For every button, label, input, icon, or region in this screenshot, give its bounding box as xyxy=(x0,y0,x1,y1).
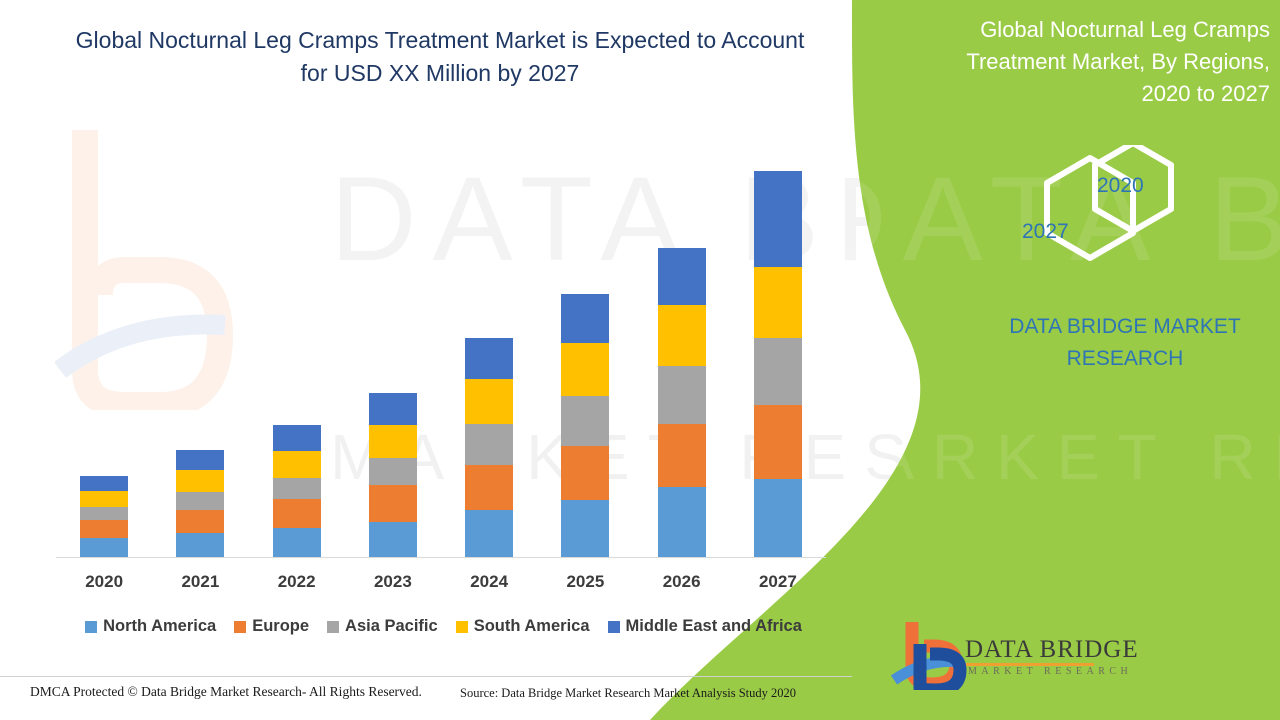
bar-slot-2024 xyxy=(441,140,537,557)
legend-item[interactable]: North America xyxy=(85,617,216,636)
logo-subtitle: MARKET RESEARCH xyxy=(968,666,1132,677)
bar-segment[interactable] xyxy=(176,510,224,534)
chart-plot-area xyxy=(56,140,826,558)
bar-segment[interactable] xyxy=(273,478,321,500)
stacked-bar[interactable] xyxy=(658,248,706,557)
stacked-bar[interactable] xyxy=(273,425,321,557)
hexagon-2027-label: 2027 xyxy=(1022,220,1069,244)
x-axis-label-2027: 2027 xyxy=(730,572,826,592)
x-axis-label-2025: 2025 xyxy=(537,572,633,592)
bar-segment[interactable] xyxy=(80,520,128,539)
chart-legend: North AmericaEuropeAsia PacificSouth Ame… xyxy=(56,617,831,636)
legend-swatch xyxy=(608,621,620,633)
bar-segment[interactable] xyxy=(176,533,224,557)
x-axis-label-2021: 2021 xyxy=(152,572,248,592)
panel-title: Global Nocturnal Leg Cramps Treatment Ma… xyxy=(920,14,1270,110)
bar-segment[interactable] xyxy=(369,458,417,485)
bar-segment[interactable] xyxy=(658,366,706,424)
infographic-canvas: DATA BRIDGE MARKET RESEARCH DATA BRIDGE … xyxy=(0,0,1280,720)
green-watermark-line2: MARKET RESEARCH xyxy=(840,420,1280,494)
bar-slot-2026 xyxy=(634,140,730,557)
bar-segment[interactable] xyxy=(273,499,321,528)
x-axis-labels: 20202021202220232024202520262027 xyxy=(56,572,826,592)
x-axis-label-2022: 2022 xyxy=(249,572,345,592)
bar-segment[interactable] xyxy=(273,451,321,478)
footer-dmca-text: DMCA Protected © Data Bridge Market Rese… xyxy=(30,684,422,700)
legend-swatch xyxy=(234,621,246,633)
x-axis-label-2026: 2026 xyxy=(634,572,730,592)
bar-segment[interactable] xyxy=(80,507,128,520)
legend-item[interactable]: Asia Pacific xyxy=(327,617,438,636)
footer-source-text: Source: Data Bridge Market Research Mark… xyxy=(460,686,796,701)
bar-segment[interactable] xyxy=(754,479,802,557)
bar-segment[interactable] xyxy=(754,267,802,338)
panel-brand-text: DATA BRIDGE MARKET RESEARCH xyxy=(990,311,1260,375)
stacked-bar[interactable] xyxy=(754,171,802,557)
bar-segment[interactable] xyxy=(658,305,706,366)
legend-swatch xyxy=(327,621,339,633)
bar-segment[interactable] xyxy=(176,450,224,471)
bar-slot-2022 xyxy=(249,140,345,557)
legend-label: Middle East and Africa xyxy=(626,617,802,636)
bar-segment[interactable] xyxy=(465,465,513,510)
logo-wordmark: DATA BRIDGE xyxy=(965,636,1139,664)
stacked-bar[interactable] xyxy=(176,450,224,557)
legend-label: South America xyxy=(474,617,590,636)
stacked-bar[interactable] xyxy=(561,294,609,557)
stacked-bar[interactable] xyxy=(80,476,128,557)
legend-label: North America xyxy=(103,617,216,636)
bar-segment[interactable] xyxy=(369,393,417,425)
bar-segment[interactable] xyxy=(561,446,609,500)
bar-segment[interactable] xyxy=(754,338,802,405)
bar-slot-2027 xyxy=(730,140,826,557)
x-axis-line xyxy=(56,557,826,558)
bar-segment[interactable] xyxy=(176,470,224,492)
chart-title: Global Nocturnal Leg Cramps Treatment Ma… xyxy=(70,24,810,90)
legend-item[interactable]: South America xyxy=(456,617,590,636)
bar-segment[interactable] xyxy=(561,396,609,446)
bar-segment[interactable] xyxy=(273,528,321,557)
bar-segment[interactable] xyxy=(658,487,706,557)
x-axis-label-2023: 2023 xyxy=(345,572,441,592)
bar-segment[interactable] xyxy=(369,425,417,458)
legend-item[interactable]: Middle East and Africa xyxy=(608,617,802,636)
stacked-bar[interactable] xyxy=(369,393,417,557)
bar-segment[interactable] xyxy=(273,425,321,451)
bar-segment[interactable] xyxy=(561,294,609,344)
bar-segment[interactable] xyxy=(658,248,706,306)
bar-segment[interactable] xyxy=(369,485,417,522)
bar-segment[interactable] xyxy=(80,538,128,557)
legend-swatch xyxy=(85,621,97,633)
bar-segment[interactable] xyxy=(80,491,128,507)
bar-slot-2021 xyxy=(152,140,248,557)
legend-item[interactable]: Europe xyxy=(234,617,309,636)
x-axis-label-2020: 2020 xyxy=(56,572,152,592)
hexagon-2020-label: 2020 xyxy=(1097,174,1144,198)
hexagon-pair xyxy=(985,145,1190,290)
bar-group xyxy=(56,140,826,557)
bar-segment[interactable] xyxy=(369,522,417,557)
bar-segment[interactable] xyxy=(658,424,706,487)
bar-segment[interactable] xyxy=(176,492,224,510)
bar-segment[interactable] xyxy=(465,338,513,379)
bar-slot-2025 xyxy=(537,140,633,557)
bar-segment[interactable] xyxy=(561,343,609,396)
bar-segment[interactable] xyxy=(465,510,513,557)
bar-slot-2020 xyxy=(56,140,152,557)
legend-label: Europe xyxy=(252,617,309,636)
footer-divider xyxy=(0,676,852,677)
bar-segment[interactable] xyxy=(561,500,609,557)
bar-segment[interactable] xyxy=(465,379,513,423)
legend-label: Asia Pacific xyxy=(345,617,438,636)
bar-segment[interactable] xyxy=(754,405,802,478)
bar-slot-2023 xyxy=(345,140,441,557)
bar-segment[interactable] xyxy=(465,424,513,465)
x-axis-label-2024: 2024 xyxy=(441,572,537,592)
bar-segment[interactable] xyxy=(80,476,128,492)
legend-swatch xyxy=(456,621,468,633)
bar-segment[interactable] xyxy=(754,171,802,267)
stacked-bar[interactable] xyxy=(465,338,513,557)
